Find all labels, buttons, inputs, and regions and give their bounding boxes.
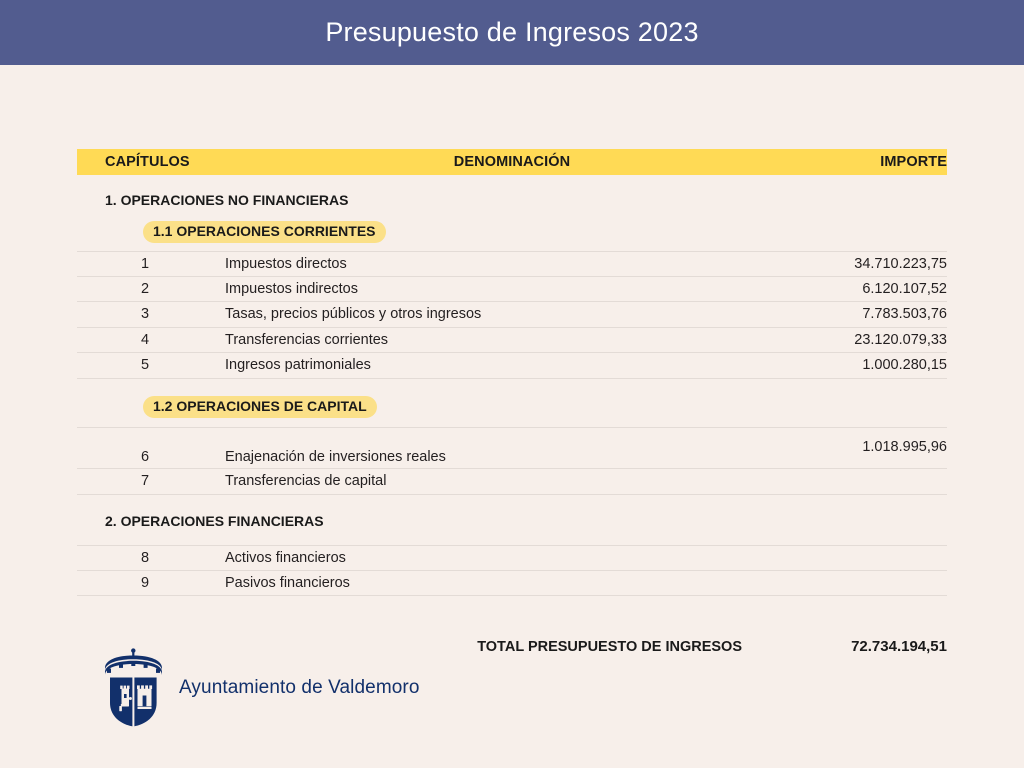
rows-operaciones-de-capital: 6 Enajenación de inversiones reales 1.01… — [77, 427, 947, 495]
section-title-operaciones-no-financieras: 1. OPERACIONES NO FINANCIERAS — [77, 192, 348, 208]
row-denominacion: Enajenación de inversiones reales — [225, 428, 446, 470]
table-row[interactable]: 2 Impuestos indirectos 6.120.107,52 — [77, 277, 947, 303]
row-importe: 1.018.995,96 — [862, 428, 947, 470]
row-importe: 7.783.503,76 — [862, 302, 947, 328]
row-chapter-number: 7 — [125, 469, 165, 495]
table-row[interactable]: 1 Impuestos directos 34.710.223,75 — [77, 251, 947, 277]
row-importe: 1.000.280,15 — [862, 353, 947, 379]
table-row[interactable]: 3 Tasas, precios públicos y otros ingres… — [77, 302, 947, 328]
row-denominacion: Activos financieros — [225, 546, 346, 572]
row-denominacion: Ingresos patrimoniales — [225, 353, 371, 379]
table-row[interactable]: 7 Transferencias de capital — [77, 469, 947, 495]
table-row[interactable]: 9 Pasivos financieros — [77, 571, 947, 597]
row-chapter-number: 2 — [125, 277, 165, 303]
footer-logo: Ayuntamiento de Valdemoro — [101, 648, 420, 728]
table-row[interactable]: 8 Activos financieros — [77, 545, 947, 571]
row-chapter-number: 1 — [125, 252, 165, 278]
row-denominacion: Transferencias de capital — [225, 469, 386, 495]
row-chapter-number: 3 — [125, 302, 165, 328]
row-chapter-number: 5 — [125, 353, 165, 379]
budget-table: CAPÍTULOS DENOMINACIÓN IMPORTE 1. OPERAC… — [77, 149, 947, 175]
page-title: Presupuesto de Ingresos 2023 — [325, 19, 698, 46]
table-row[interactable]: 4 Transferencias corrientes 23.120.079,3… — [77, 328, 947, 354]
total-label: TOTAL PRESUPUESTO DE INGRESOS — [477, 634, 742, 660]
page-banner: Presupuesto de Ingresos 2023 — [0, 0, 1024, 65]
row-denominacion: Tasas, precios públicos y otros ingresos — [225, 302, 481, 328]
subsection-title-operaciones-corrientes: 1.1 OPERACIONES CORRIENTES — [143, 221, 386, 243]
row-chapter-number: 4 — [125, 328, 165, 354]
rows-operaciones-corrientes: 1 Impuestos directos 34.710.223,75 2 Imp… — [77, 251, 947, 379]
total-amount: 72.734.194,51 — [851, 634, 947, 660]
row-denominacion: Impuestos directos — [225, 252, 347, 278]
row-denominacion: Transferencias corrientes — [225, 328, 388, 354]
logo-text: Ayuntamiento de Valdemoro — [179, 677, 420, 699]
row-importe: 23.120.079,33 — [854, 328, 947, 354]
rows-operaciones-financieras: 8 Activos financieros 9 Pasivos financie… — [77, 545, 947, 596]
table-row[interactable]: 6 Enajenación de inversiones reales 1.01… — [77, 427, 947, 469]
row-importe: 34.710.223,75 — [854, 252, 947, 278]
section-title-operaciones-financieras: 2. OPERACIONES FINANCIERAS — [77, 513, 324, 529]
row-importe: 6.120.107,52 — [862, 277, 947, 303]
column-header-denominacion: DENOMINACIÓN — [77, 149, 947, 175]
table-row[interactable]: 5 Ingresos patrimoniales 1.000.280,15 — [77, 353, 947, 379]
subsection-title-operaciones-de-capital: 1.2 OPERACIONES DE CAPITAL — [143, 396, 377, 418]
row-denominacion: Pasivos financieros — [225, 571, 350, 597]
column-header-importe: IMPORTE — [880, 149, 947, 175]
row-denominacion: Impuestos indirectos — [225, 277, 358, 303]
row-chapter-number: 6 — [125, 428, 165, 470]
row-chapter-number: 8 — [125, 546, 165, 572]
ayuntamiento-de-valdemoro-coat-of-arms-icon — [101, 648, 167, 728]
table-header-row: CAPÍTULOS DENOMINACIÓN IMPORTE — [77, 149, 947, 175]
row-chapter-number: 9 — [125, 571, 165, 597]
